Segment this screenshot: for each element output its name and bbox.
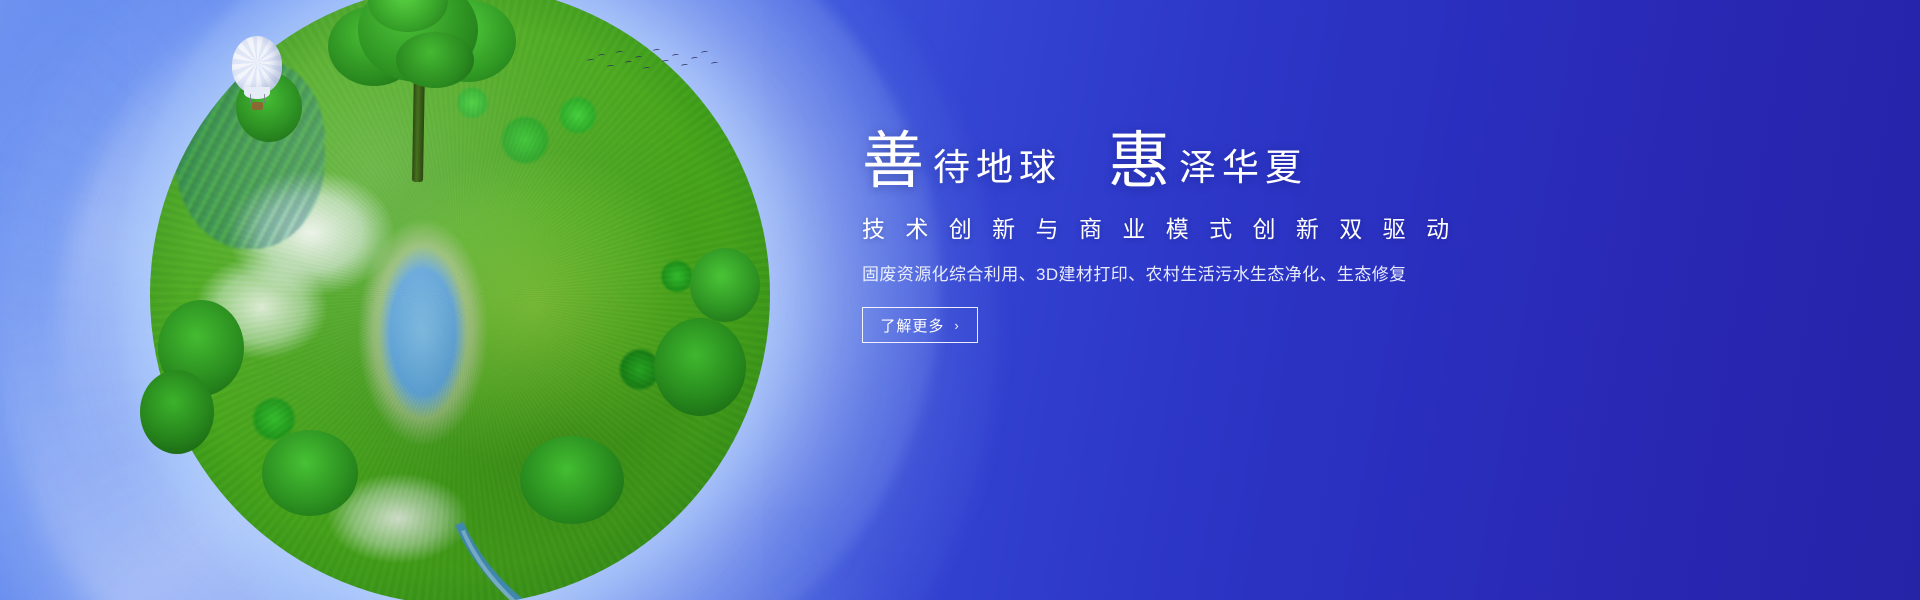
hero-content: 善 待地球 惠 泽华夏 技 术 创 新 与 商 业 模 式 创 新 双 驱 动 …: [862, 128, 1622, 343]
bird-icon: [672, 54, 679, 58]
balloon-basket: [252, 102, 263, 110]
bird-icon: [711, 62, 718, 66]
bird-icon: [635, 56, 642, 60]
bird-icon: [691, 57, 698, 61]
chevron-right-icon: ›: [954, 319, 959, 332]
hero-description: 固废资源化综合利用、3D建材打印、农村生活污水生态净化、生态修复: [862, 260, 1622, 285]
bird-icon: [598, 54, 605, 58]
learn-more-button[interactable]: 了解更多 ›: [862, 307, 978, 343]
bird-icon: [625, 61, 632, 65]
bird-flock: [585, 45, 725, 91]
bird-icon: [643, 67, 650, 71]
headline-rest-1: 待地球: [933, 149, 1062, 186]
headline-rest-2: 泽华夏: [1179, 149, 1308, 186]
balloon-envelope: [232, 36, 282, 94]
bird-icon: [701, 51, 708, 55]
hot-air-balloon-icon: [232, 36, 292, 122]
bird-icon: [653, 49, 660, 53]
learn-more-label: 了解更多: [880, 315, 944, 336]
headline-char-1: 善: [862, 130, 925, 192]
hero-banner: 善 待地球 惠 泽华夏 技 术 创 新 与 商 业 模 式 创 新 双 驱 动 …: [0, 0, 1920, 600]
bird-icon: [616, 51, 623, 55]
bird-icon: [607, 65, 614, 69]
hero-headline: 善 待地球 惠 泽华夏: [862, 128, 1622, 190]
edge-tree-left-2: [140, 370, 214, 454]
headline-char-2: 惠: [1108, 130, 1171, 192]
edge-tree-bottom-2: [520, 436, 624, 524]
edge-tree-bottom-1: [262, 430, 358, 516]
bird-icon: [662, 60, 669, 64]
hero-subtitle: 技 术 创 新 与 商 业 模 式 创 新 双 驱 动: [862, 210, 1622, 244]
bird-icon: [587, 59, 594, 63]
edge-tree-right-1: [654, 318, 746, 416]
edge-tree-right-2: [690, 248, 760, 322]
bird-icon: [681, 64, 688, 68]
